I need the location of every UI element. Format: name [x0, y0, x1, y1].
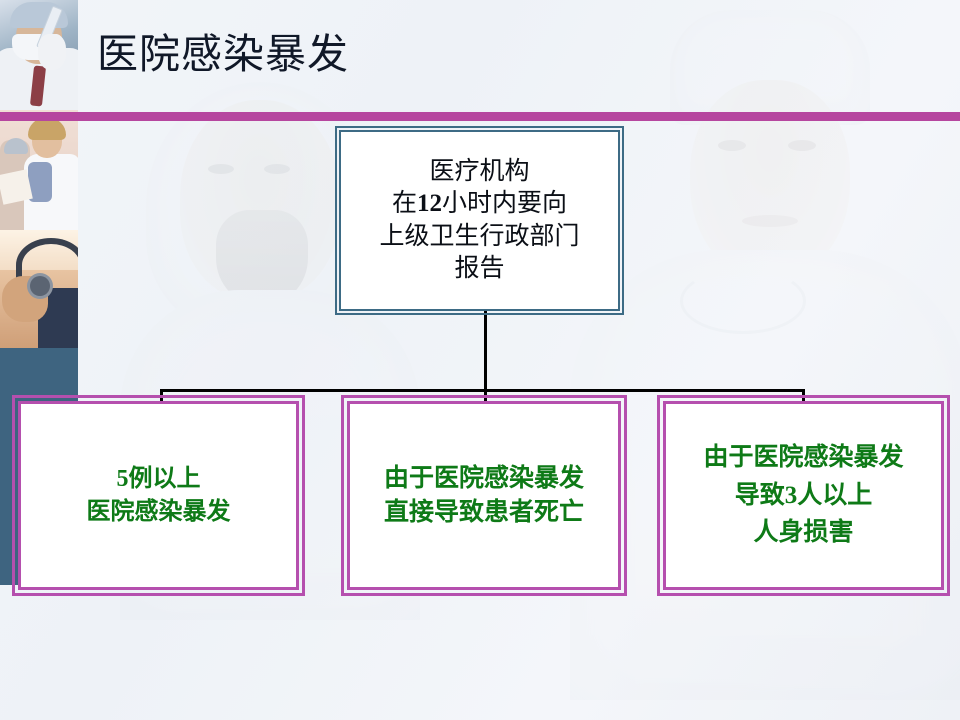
sidebar-photo-strip — [0, 0, 78, 348]
header-divider-bar — [0, 112, 960, 121]
top-line-2-number: 12 — [417, 190, 442, 217]
watermark-capped-figure — [560, 0, 960, 700]
page-title: 医院感染暴发 — [97, 32, 349, 77]
b3-line-2-pre: 导致 — [735, 482, 785, 509]
top-line-4: 报告 — [454, 255, 504, 282]
slide-canvas: 医院感染暴发 医疗机构 在12小时内要向 上级卫生行政部门 报告 5例以上 医院… — [0, 0, 960, 720]
flow-node-b1-text: 5例以上 医院感染暴发 — [87, 463, 231, 527]
top-line-3: 上级卫生行政部门 — [379, 223, 579, 250]
lab-technician-photo — [0, 0, 78, 110]
nurse-doctor-photo — [0, 110, 78, 230]
flow-node-direct-death: 由于医院感染暴发 直接导致患者死亡 — [347, 401, 621, 590]
b2-line-1: 由于医院感染暴发 — [384, 465, 584, 492]
background-watermark — [0, 0, 960, 720]
top-line-1: 医疗机构 — [429, 158, 529, 185]
b2-line-2: 直接导致患者死亡 — [384, 499, 584, 526]
b1-line-1-post: 例以上 — [129, 466, 201, 492]
flow-node-b2-text: 由于医院感染暴发 直接导致患者死亡 — [384, 462, 584, 529]
b3-line-2-post: 人以上 — [797, 482, 872, 509]
b3-line-1: 由于医院感染暴发 — [703, 444, 903, 471]
b3-line-3: 人身损害 — [753, 519, 853, 546]
b1-line-1-number: 5 — [117, 466, 129, 492]
stethoscope-exam-photo — [0, 230, 78, 348]
connector-horizontal — [160, 389, 805, 392]
flow-node-three-injured: 由于医院感染暴发 导致3人以上 人身损害 — [663, 401, 944, 590]
flow-node-b3-text: 由于医院感染暴发 导致3人以上 人身损害 — [703, 439, 903, 552]
top-line-2-pre: 在 — [392, 190, 417, 217]
flow-node-report-requirement: 医疗机构 在12小时内要向 上级卫生行政部门 报告 — [339, 130, 620, 311]
b3-line-2-number: 3 — [785, 482, 798, 509]
connector-stem — [484, 311, 487, 391]
flow-node-top-text: 医疗机构 在12小时内要向 上级卫生行政部门 报告 — [379, 156, 579, 286]
b1-line-2: 医院感染暴发 — [87, 499, 231, 525]
flow-node-five-cases: 5例以上 医院感染暴发 — [18, 401, 299, 590]
top-line-2-post: 小时内要向 — [442, 190, 567, 217]
